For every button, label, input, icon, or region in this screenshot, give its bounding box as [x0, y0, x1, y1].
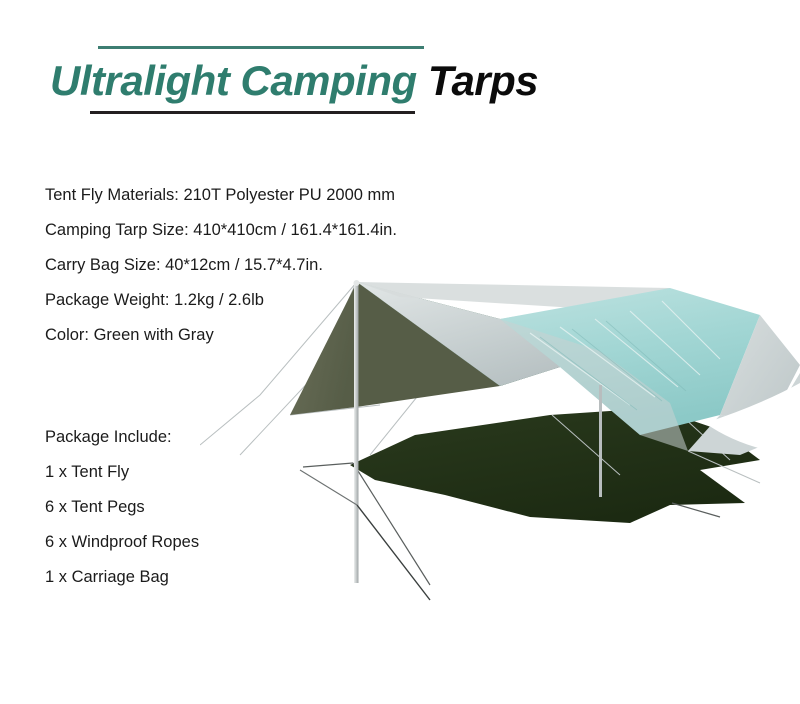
rear-pole — [599, 385, 602, 497]
tarp-illustration — [200, 255, 800, 615]
spec-line: Camping Tarp Size: 410*410cm / 161.4*161… — [45, 213, 515, 248]
page-title: Ultralight Camping Tarps — [50, 55, 538, 107]
front-pole-guy-line — [357, 505, 430, 600]
page-title-black: Tarps — [428, 57, 538, 104]
tarp-ground-shadow — [350, 408, 760, 523]
title-block: Ultralight Camping Tarps — [0, 0, 800, 135]
spec-line: Tent Fly Materials: 210T Polyester PU 20… — [45, 178, 515, 213]
product-photo — [200, 255, 800, 615]
title-rule-top — [98, 46, 424, 49]
page-title-green: Ultralight Camping — [50, 57, 417, 104]
front-pole-tip — [354, 280, 360, 286]
front-pole — [354, 283, 359, 583]
title-rule-bottom — [90, 111, 415, 114]
front-pole-guy-line-2 — [300, 470, 357, 505]
